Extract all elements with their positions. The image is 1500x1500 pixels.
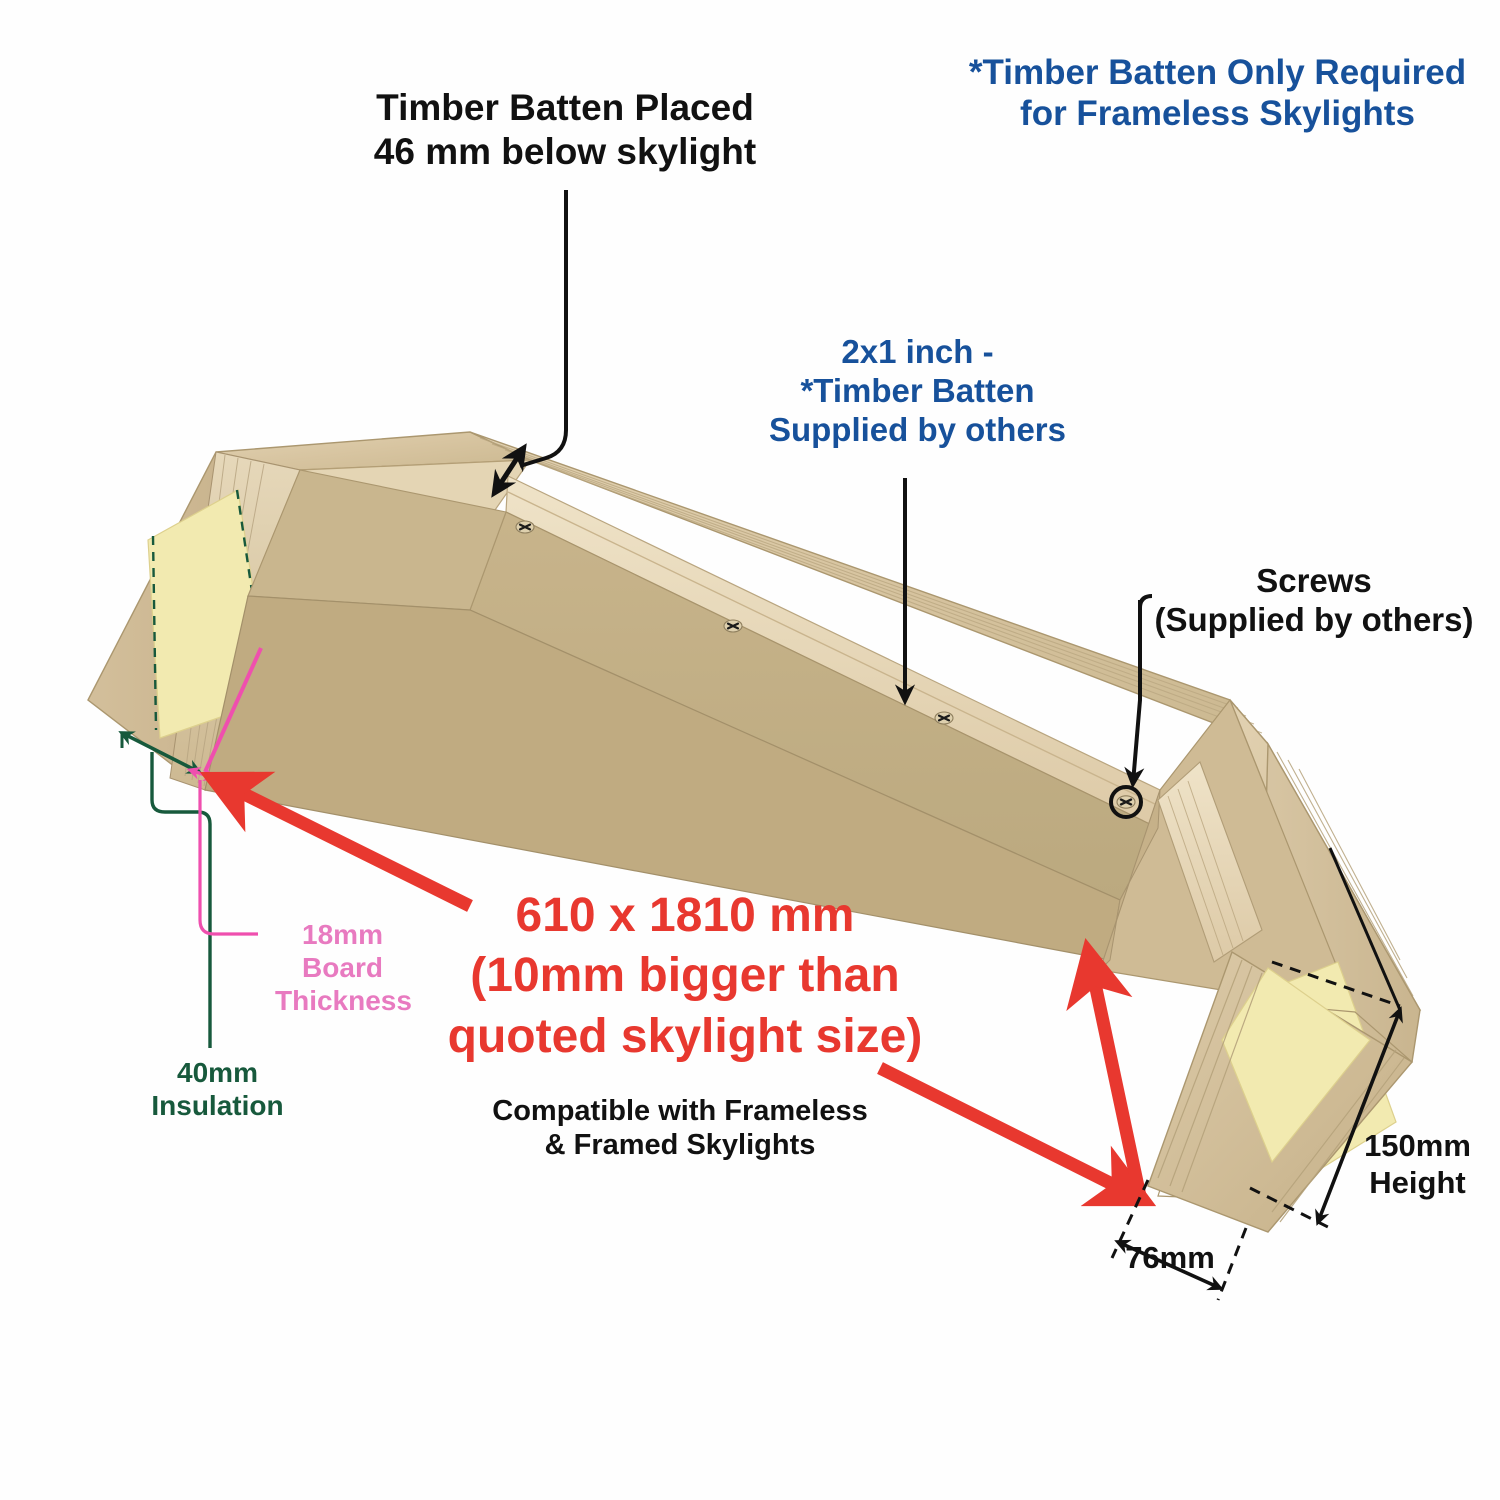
skylight-kerb-illustration bbox=[0, 0, 1500, 1500]
screw-icon bbox=[935, 712, 953, 724]
label-batten-placed: Timber Batten Placed 46 mm below skyligh… bbox=[330, 86, 800, 173]
diagram-canvas: Timber Batten Placed 46 mm below skyligh… bbox=[0, 0, 1500, 1500]
label-screws: Screws (Supplied by others) bbox=[1128, 562, 1500, 640]
leader-batten-placed bbox=[520, 190, 566, 466]
label-batten-spec: 2x1 inch - *Timber Batten Supplied by ot… bbox=[745, 333, 1090, 450]
label-height: 150mm Height bbox=[1335, 1128, 1500, 1201]
red-arrow-up-right bbox=[1090, 960, 1140, 1196]
red-arrow-to-bottom-right bbox=[880, 1068, 1136, 1196]
label-width: 76mm bbox=[1120, 1240, 1220, 1277]
screw-icon bbox=[516, 521, 534, 533]
dim-76mm-ext-right bbox=[1218, 1228, 1246, 1300]
label-board-thickness: 18mm Board Thickness bbox=[275, 918, 410, 1017]
label-insulation: 40mm Insulation bbox=[140, 1056, 295, 1122]
label-opening-size: 610 x 1810 mm (10mm bigger than quoted s… bbox=[400, 886, 970, 1067]
label-frameless-note: *Timber Batten Only Required for Framele… bbox=[940, 52, 1495, 135]
label-compatibility: Compatible with Frameless & Framed Skyli… bbox=[470, 1094, 890, 1162]
screw-icon bbox=[724, 620, 742, 632]
